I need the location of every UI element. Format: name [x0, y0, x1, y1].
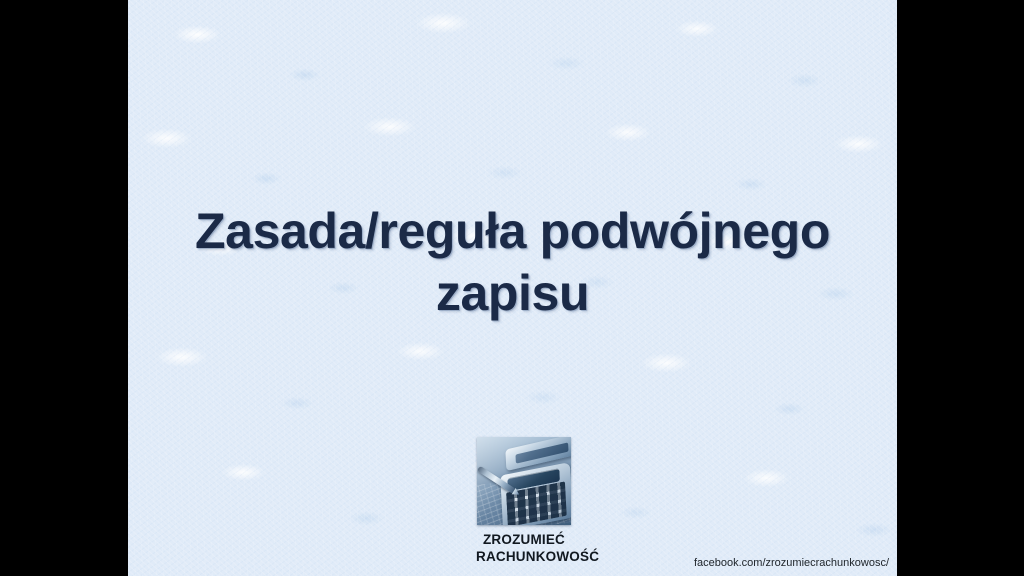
facebook-url-credit: facebook.com/zrozumiecrachunkowosc/ [694, 556, 889, 570]
brand-logo-block: ZROZUMIEĆ RACHUNKOWOŚĆ [476, 437, 572, 565]
letterbox-bar-right [897, 0, 1024, 576]
brand-name-line-1: ZROZUMIEĆ [476, 531, 572, 548]
video-player-frame: Zasada/reguła podwójnego zapisu ZROZUMIE… [0, 0, 1024, 576]
brand-name-line-2: RACHUNKOWOŚĆ [476, 548, 572, 565]
presentation-slide: Zasada/reguła podwójnego zapisu ZROZUMIE… [128, 0, 897, 576]
calculator-photo-icon [477, 437, 571, 525]
slide-title: Zasada/reguła podwójnego zapisu [128, 200, 897, 324]
letterbox-bar-left [0, 0, 128, 576]
